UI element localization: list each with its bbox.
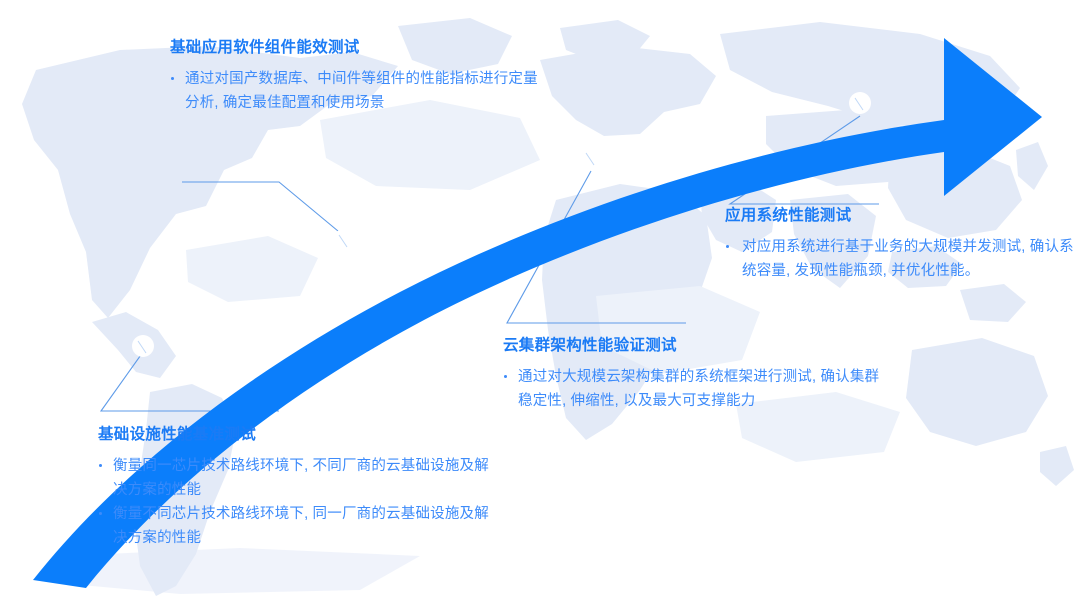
connector-component [182,182,344,236]
stage-node-2 [333,229,355,251]
list-item: 通过对国产数据库、中间件等组件的性能指标进行定量分析, 确定最佳配置和使用场景 [170,68,546,115]
block-heading-component: 基础应用软件组件能效测试 [170,38,546,58]
stage-node-3 [580,147,602,169]
block-bullets-cluster: 通过对大规模云架构集群的系统框架进行测试, 确认集群稳定性, 伸缩性, 以及最大… [503,366,883,413]
block-heading-infrastructure: 基础设施性能基准测试 [98,425,498,445]
info-block-application-system: 应用系统性能测试 对应用系统进行基于业务的大规模并发测试, 确认系统容量, 发现… [725,206,1077,284]
block-bullets-infrastructure: 衡量同一芯片技术路线环境下, 不同厂商的云基础设施及解决方案的性能 衡量不同芯片… [98,455,498,550]
info-block-infrastructure: 基础设施性能基准测试 衡量同一芯片技术路线环境下, 不同厂商的云基础设施及解决方… [98,425,498,551]
stage-node-1 [132,335,154,357]
block-heading-cluster: 云集群架构性能验证测试 [503,336,883,356]
info-block-cluster: 云集群架构性能验证测试 通过对大规模云架构集群的系统框架进行测试, 确认集群稳定… [503,336,883,414]
list-item: 衡量不同芯片技术路线环境下, 同一厂商的云基础设施及解决方案的性能 [98,503,498,550]
bullet-dot-icon [171,77,174,80]
block-bullets-component: 通过对国产数据库、中间件等组件的性能指标进行定量分析, 确定最佳配置和使用场景 [170,68,546,115]
list-item: 对应用系统进行基于业务的大规模并发测试, 确认系统容量, 发现性能瓶颈, 并优化… [725,236,1077,283]
bullet-dot-icon [504,375,507,378]
info-block-component: 基础应用软件组件能效测试 通过对国产数据库、中间件等组件的性能指标进行定量分析,… [170,38,546,116]
bullet-dot-icon [99,512,102,515]
bullet-dot-icon [726,245,729,248]
list-item: 衡量同一芯片技术路线环境下, 不同厂商的云基础设施及解决方案的性能 [98,455,498,502]
stage-node-4 [849,92,871,114]
bullet-text: 衡量同一芯片技术路线环境下, 不同厂商的云基础设施及解决方案的性能 [113,458,489,497]
bullet-text: 对应用系统进行基于业务的大规模并发测试, 确认系统容量, 发现性能瓶颈, 并优化… [742,239,1074,278]
list-item: 通过对大规模云架构集群的系统框架进行测试, 确认集群稳定性, 伸缩性, 以及最大… [503,366,883,413]
bullet-text: 通过对大规模云架构集群的系统框架进行测试, 确认集群稳定性, 伸缩性, 以及最大… [518,369,879,408]
bullet-dot-icon [99,464,102,467]
diagram-canvas: 基础应用软件组件能效测试 通过对国产数据库、中间件等组件的性能指标进行定量分析,… [0,0,1080,608]
block-heading-application-system: 应用系统性能测试 [725,206,1077,226]
bullet-text: 衡量不同芯片技术路线环境下, 同一厂商的云基础设施及解决方案的性能 [113,506,489,545]
block-bullets-application-system: 对应用系统进行基于业务的大规模并发测试, 确认系统容量, 发现性能瓶颈, 并优化… [725,236,1077,283]
bullet-text: 通过对国产数据库、中间件等组件的性能指标进行定量分析, 确定最佳配置和使用场景 [185,71,538,110]
